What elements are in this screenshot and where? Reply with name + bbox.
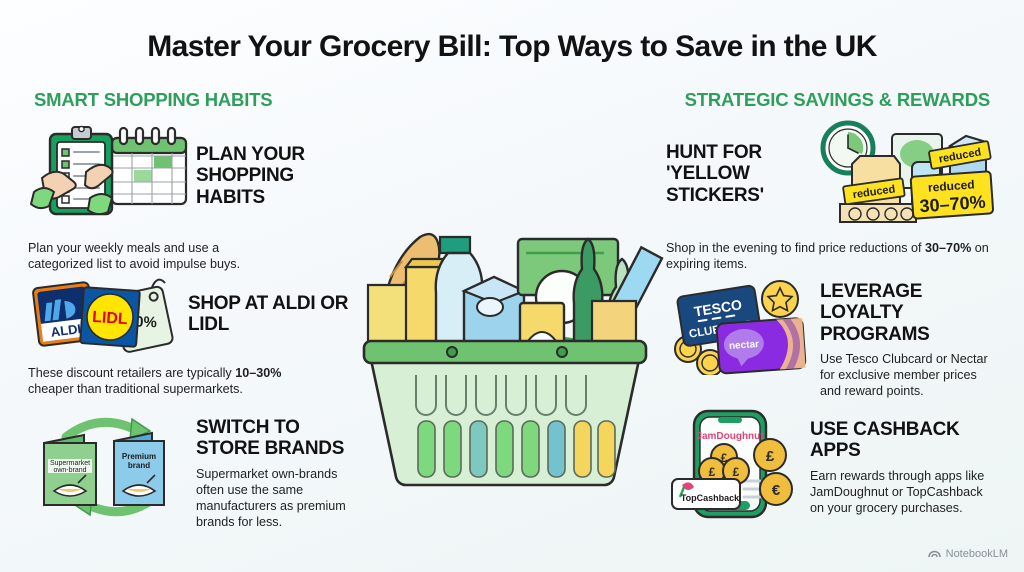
- tip-text: HUNT FOR 'YELLOW STICKERS': [666, 120, 800, 206]
- tip-body-prefix: Shop in the evening to find price reduct…: [666, 241, 925, 255]
- right-column: reduced reduced reduced 30–70%: [666, 120, 996, 535]
- tip-heading: HUNT FOR 'YELLOW STICKERS': [666, 142, 794, 206]
- tip-body-highlight: 30–70%: [925, 241, 971, 255]
- tip-heading: PLAN YOUR SHOPPING HABITS: [196, 144, 358, 208]
- tip-body: Plan your weekly meals and use a categor…: [28, 240, 268, 272]
- svg-text:Supermarket: Supermarket: [50, 460, 90, 467]
- svg-text:own-brand: own-brand: [53, 467, 86, 474]
- tip-text: SWITCH TO STORE BRANDS Supermarket own-b…: [196, 405, 358, 530]
- shopping-basket-illustration: [340, 195, 670, 500]
- tip-text: USE CASHBACK APPS Earn rewards through a…: [806, 405, 996, 516]
- tip-body: Supermarket own-brands often use the sam…: [196, 466, 358, 530]
- section-heading-left: SMART SHOPPING HABITS: [34, 89, 272, 111]
- tip-text: PLAN YOUR SHOPPING HABITS: [196, 120, 358, 208]
- tip-body-suffix: cheaper than traditional supermarkets.: [28, 382, 243, 396]
- tip-body: Earn rewards through apps like JamDoughn…: [810, 468, 996, 516]
- notebooklm-logo-icon: [928, 546, 941, 562]
- infographic-page: Master Your Grocery Bill: Top Ways to Sa…: [0, 0, 1024, 572]
- tip-heading: USE CASHBACK APPS: [810, 419, 996, 462]
- svg-text:Premium: Premium: [122, 452, 156, 461]
- cereal-box-swap-icon: Supermarket own-brand Premium brand: [28, 405, 196, 523]
- tip-body-prefix: These discount retailers are typically: [28, 366, 235, 380]
- tip-body-text: Earn rewards through apps like JamDoughn…: [810, 469, 984, 515]
- watermark: NotebookLM: [928, 546, 1008, 562]
- tip-body-text: Use Tesco Clubcard or Nectar for exclusi…: [820, 352, 988, 398]
- tip-shop-at-aldi-or-lidl: 10% ALDI: [28, 275, 358, 405]
- watermark-label: NotebookLM: [946, 548, 1008, 560]
- svg-text:£: £: [709, 465, 716, 479]
- tip-plan-your-shopping-habits: PLAN YOUR SHOPPING HABITS Plan your week…: [28, 120, 358, 275]
- tip-use-cashback-apps: JamDoughnut £ £ £: [666, 405, 996, 535]
- tip-text: LEVERAGE LOYALTY PROGRAMS Use Tesco Club…: [812, 275, 996, 399]
- svg-text:€: €: [772, 482, 781, 499]
- tip-body: Use Tesco Clubcard or Nectar for exclusi…: [820, 351, 996, 399]
- clock-groceries-reduced-stickers-icon: reduced reduced reduced 30–70%: [800, 120, 996, 232]
- loyalty-cards-coins-icon: TESCO CLUBCARD: [666, 275, 812, 375]
- svg-text:£: £: [766, 448, 775, 465]
- tip-body-highlight: 10–30%: [235, 366, 281, 380]
- tip-leverage-loyalty-programs: TESCO CLUBCARD: [666, 275, 996, 405]
- svg-text:£: £: [733, 465, 740, 479]
- svg-text:TopCashback: TopCashback: [681, 493, 740, 503]
- tip-body: Shop in the evening to find price reduct…: [666, 240, 996, 272]
- tip-body-text: Supermarket own-brands often use the sam…: [196, 467, 346, 529]
- tip-switch-to-store-brands: Supermarket own-brand Premium brand: [28, 405, 358, 535]
- section-heading-right: STRATEGIC SAVINGS & REWARDS: [685, 89, 990, 111]
- phone-cashback-coins-icon: JamDoughnut £ £ £: [666, 405, 806, 523]
- svg-text:LIDL: LIDL: [92, 309, 129, 328]
- aldi-lidl-logos-icon: 10% ALDI: [28, 275, 188, 355]
- clipboard-calendar-icon: [28, 120, 196, 230]
- page-title: Master Your Grocery Bill: Top Ways to Sa…: [0, 30, 1024, 64]
- tip-text: SHOP AT ALDI OR LIDL: [188, 275, 358, 336]
- tip-hunt-for-yellow-stickers: reduced reduced reduced 30–70%: [666, 120, 996, 275]
- tip-body-text: Plan your weekly meals and use a categor…: [28, 241, 240, 271]
- left-column: PLAN YOUR SHOPPING HABITS Plan your week…: [28, 120, 358, 535]
- tip-heading: LEVERAGE LOYALTY PROGRAMS: [820, 281, 996, 345]
- tip-heading: SWITCH TO STORE BRANDS: [196, 417, 358, 460]
- tip-body: These discount retailers are typically 1…: [28, 365, 318, 397]
- svg-text:nectar: nectar: [729, 339, 760, 352]
- svg-text:£: £: [721, 451, 728, 465]
- svg-text:brand: brand: [128, 461, 150, 470]
- svg-text:JamDoughnut: JamDoughnut: [696, 431, 764, 442]
- tip-heading: SHOP AT ALDI OR LIDL: [188, 293, 358, 336]
